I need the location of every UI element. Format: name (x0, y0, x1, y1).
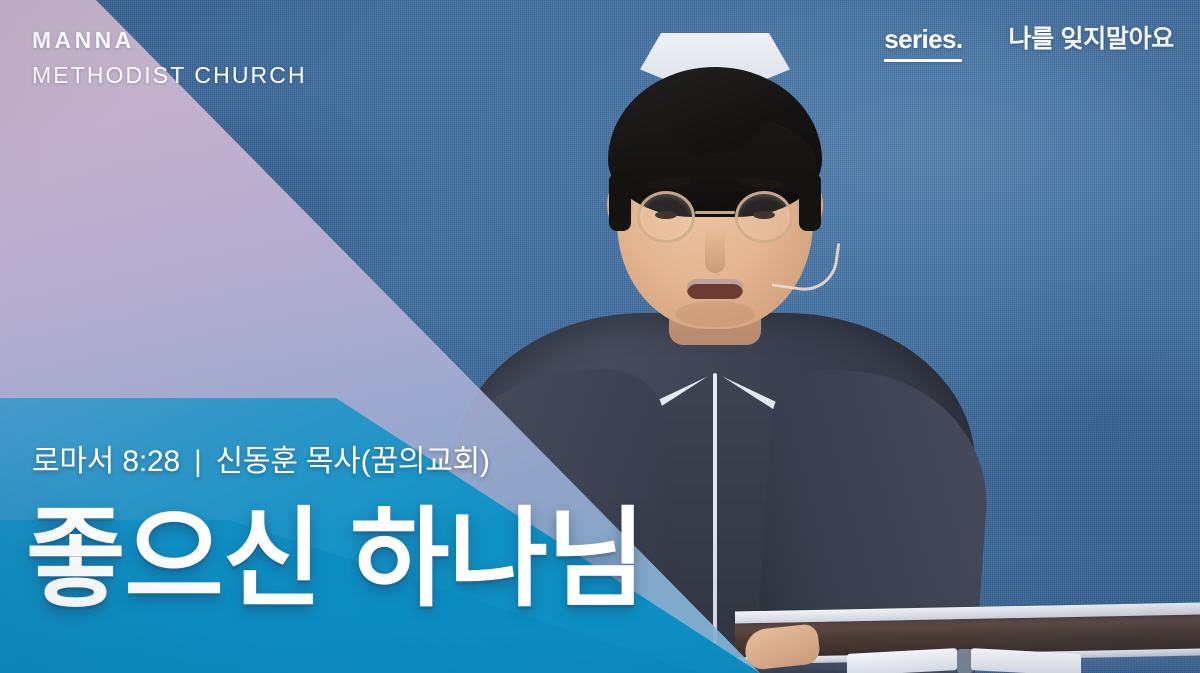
sermon-title-card: MANNA METHODIST CHURCH series. 나를 잊지말아요 … (0, 0, 1200, 673)
church-name-secondary: METHODIST CHURCH (32, 64, 307, 87)
church-name-primary: MANNA (32, 29, 307, 52)
scripture-reference: 로마서 8:28 (32, 445, 180, 478)
series-title: 나를 잊지말아요 (1008, 26, 1174, 52)
sermon-title: 좋으신 하나님 (26, 501, 645, 618)
church-identity: MANNA METHODIST CHURCH (32, 29, 307, 87)
speaker-name: 신동훈 목사(꿈의교회) (216, 445, 490, 478)
series-label: series. (884, 26, 962, 52)
text-layer: MANNA METHODIST CHURCH series. 나를 잊지말아요 … (0, 0, 1200, 673)
series-underline-rule (884, 59, 962, 62)
sermon-metadata: 로마서 8:28|신동훈 목사(꿈의교회) (32, 447, 490, 477)
series-label-group: series. (884, 26, 962, 62)
series-identity: series. 나를 잊지말아요 (884, 26, 1174, 62)
metadata-separator: | (180, 447, 216, 477)
